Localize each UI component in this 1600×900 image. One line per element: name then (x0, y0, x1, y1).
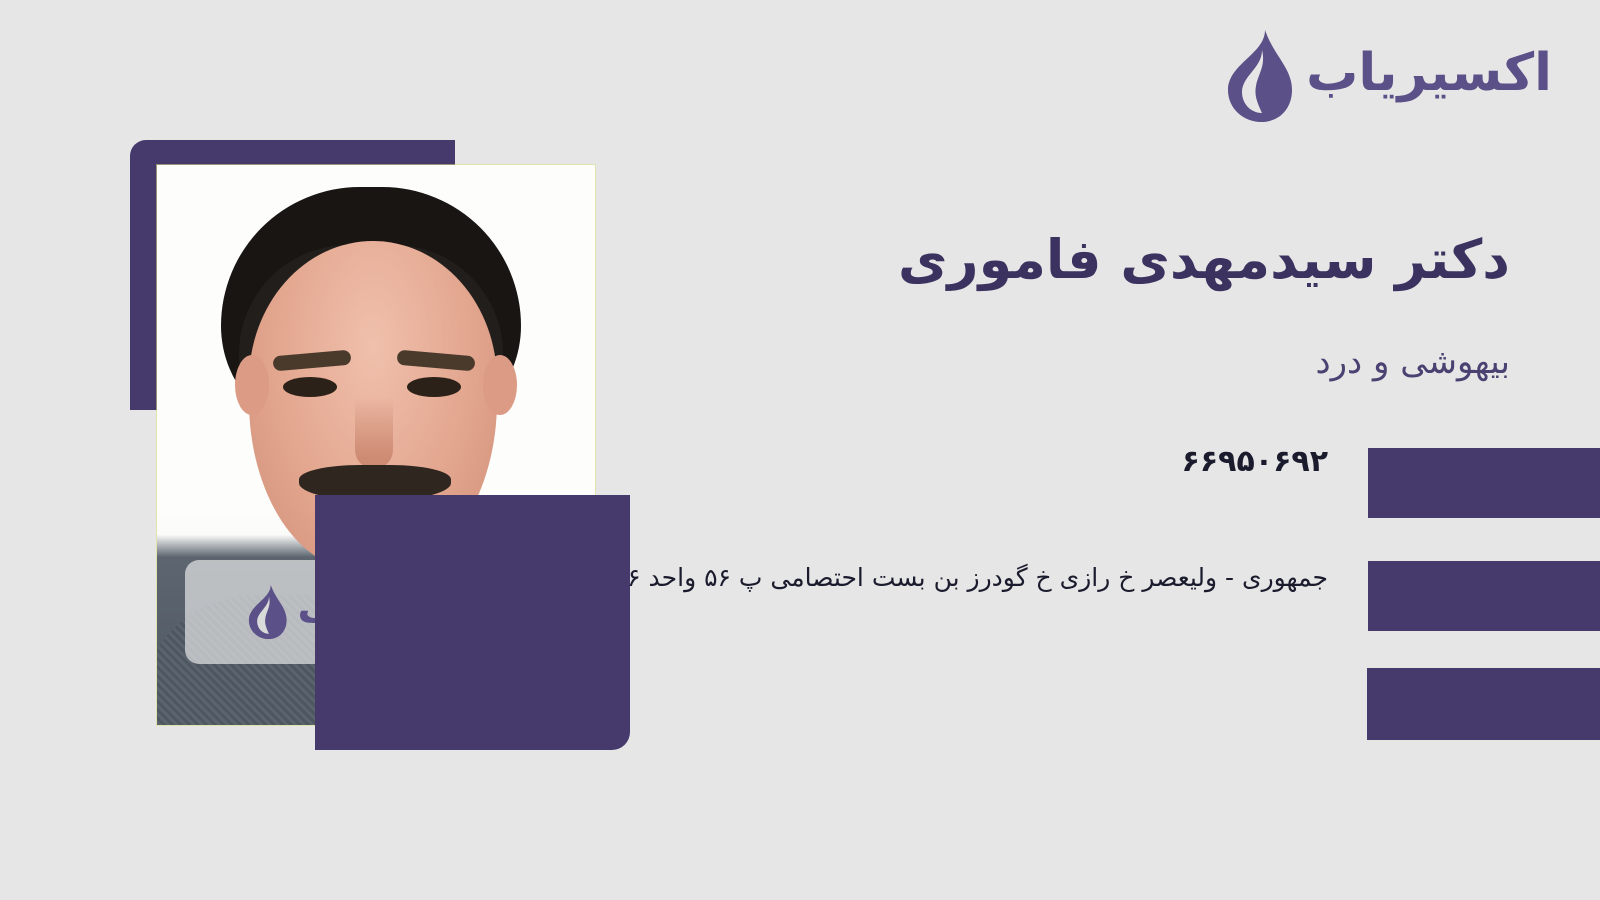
photo-block: اکسیریاب (0, 0, 700, 900)
doctor-specialty: بیهوشی و درد (1315, 340, 1510, 384)
decor-bar-3 (1367, 668, 1600, 740)
portrait-ear-left (235, 355, 269, 415)
doctor-name: دکتر سیدمهدی فاموری (898, 228, 1510, 293)
portrait-eye-left (283, 377, 337, 397)
doctor-address: جمهوری - ولیعصر خ رازی خ گودرز بن بست اح… (627, 562, 1328, 595)
decor-block-front-photo (315, 495, 630, 750)
portrait-ear-right (483, 355, 517, 415)
portrait-eye-right (407, 377, 461, 397)
decor-bar-1 (1368, 448, 1600, 518)
doctor-phone[interactable]: ۶۶۹۵۰۶۹۲ (1182, 444, 1328, 480)
watermark-flame-drop-icon (243, 583, 289, 641)
portrait-nose (355, 397, 393, 469)
doctor-info: دکتر سیدمهدی فاموری بیهوشی و درد ۶۶۹۵۰۶۹… (700, 0, 1600, 900)
doctor-profile-card: اکسیریاب (0, 0, 1600, 900)
decor-bar-2 (1368, 561, 1600, 631)
